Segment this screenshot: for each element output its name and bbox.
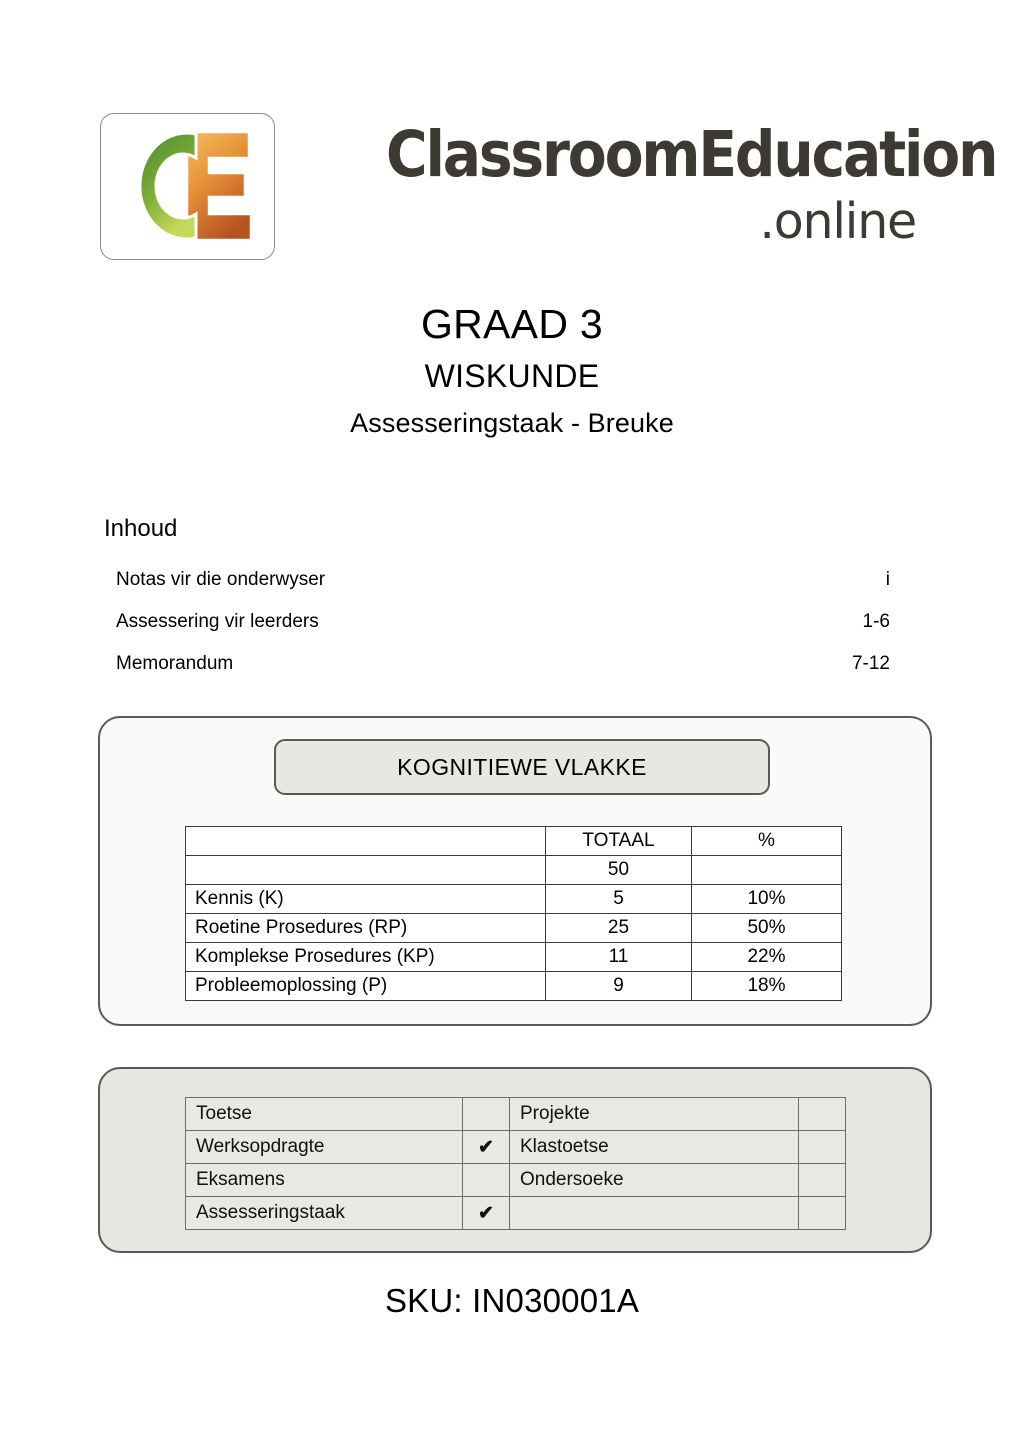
table-row: Eksamens Ondersoeke (186, 1164, 846, 1197)
cog-row-label: Roetine Prosedures (RP) (186, 914, 546, 943)
cog-total-label (186, 856, 546, 885)
cog-row-total: 5 (546, 885, 692, 914)
table-row: Kennis (K) 5 10% (186, 885, 842, 914)
ce-monogram-icon (100, 113, 275, 260)
table-row: 50 (186, 856, 842, 885)
brand-wordmark-main: ClassroomEducation (386, 123, 996, 186)
table-row: Toetse Projekte (186, 1098, 846, 1131)
assessment-right-label: Ondersoeke (510, 1164, 799, 1197)
cog-row-percent: 22% (692, 943, 842, 972)
table-row: Probleemoplossing (P) 9 18% (186, 972, 842, 1001)
table-row: Komplekse Prosedures (KP) 11 22% (186, 943, 842, 972)
brand-wordmark-suffix: .online (759, 197, 916, 246)
cognitive-levels-title: KOGNITIEWE VLAKKE (274, 739, 770, 795)
assessment-left-checkbox[interactable] (463, 1164, 510, 1197)
cog-row-percent: 10% (692, 885, 842, 914)
cog-row-percent: 18% (692, 972, 842, 1001)
table-row: Werksopdragte ✔ Klastoetse (186, 1131, 846, 1164)
toc-entry: Memorandum 7-12 (104, 643, 890, 685)
assessment-left-label: Assesseringstaak (186, 1197, 463, 1230)
cog-row-percent: 50% (692, 914, 842, 943)
toc-entry-label: Memorandum (116, 643, 233, 685)
assessment-right-label (510, 1197, 799, 1230)
toc-entry-pages: i (886, 559, 890, 601)
cog-total-value: 50 (546, 856, 692, 885)
assessment-left-checkbox[interactable]: ✔ (463, 1131, 510, 1164)
toc-entry-label: Assessering vir leerders (116, 601, 319, 643)
assessment-right-checkbox[interactable] (799, 1164, 846, 1197)
brand-wordmark: ClassroomEducation .online (278, 115, 924, 260)
table-header-row: TOTAAL % (186, 827, 842, 856)
assessment-left-checkbox[interactable] (463, 1098, 510, 1131)
assessment-right-label: Klastoetse (510, 1131, 799, 1164)
page-title-subject: WISKUNDE (0, 352, 1024, 400)
assessment-right-checkbox[interactable] (799, 1197, 846, 1230)
cog-row-total: 9 (546, 972, 692, 1001)
toc-heading: Inhoud (104, 512, 890, 546)
page-title-grade: GRAAD 3 (0, 296, 1024, 352)
page-title-task: Assesseringstaak - Breuke (0, 400, 1024, 446)
assessment-right-label: Projekte (510, 1098, 799, 1131)
cog-row-total: 25 (546, 914, 692, 943)
assessment-right-checkbox[interactable] (799, 1131, 846, 1164)
assessment-type-panel: Toetse Projekte Werksopdragte ✔ Klastoet… (98, 1067, 932, 1253)
assessment-left-checkbox[interactable]: ✔ (463, 1197, 510, 1230)
toc-entry-pages: 1-6 (863, 601, 890, 643)
document-title-block: GRAAD 3 WISKUNDE Assesseringstaak - Breu… (0, 296, 1024, 446)
assessment-right-checkbox[interactable] (799, 1098, 846, 1131)
cog-total-percent (692, 856, 842, 885)
assessment-left-label: Eksamens (186, 1164, 463, 1197)
cog-header-percent: % (692, 827, 842, 856)
cog-row-label: Komplekse Prosedures (KP) (186, 943, 546, 972)
assessment-left-label: Toetse (186, 1098, 463, 1131)
brand-header: ClassroomEducation .online (100, 113, 924, 263)
cognitive-levels-panel: KOGNITIEWE VLAKKE TOTAAL % 50 Kennis (K)… (98, 716, 932, 1026)
toc-entry-pages: 7-12 (852, 643, 890, 685)
table-row: Roetine Prosedures (RP) 25 50% (186, 914, 842, 943)
cog-header-blank (186, 827, 546, 856)
toc-entry-label: Notas vir die onderwyser (116, 559, 325, 601)
table-of-contents: Inhoud Notas vir die onderwyser i Assess… (104, 512, 890, 685)
cognitive-levels-table: TOTAAL % 50 Kennis (K) 5 10% Roetine Pro… (185, 826, 842, 1001)
toc-entry: Assessering vir leerders 1-6 (104, 601, 890, 643)
cog-header-total: TOTAAL (546, 827, 692, 856)
toc-entry: Notas vir die onderwyser i (104, 559, 890, 601)
cog-row-label: Kennis (K) (186, 885, 546, 914)
assessment-left-label: Werksopdragte (186, 1131, 463, 1164)
cog-row-total: 11 (546, 943, 692, 972)
sku-label: SKU: IN030001A (0, 1282, 1024, 1320)
table-row: Assesseringstaak ✔ (186, 1197, 846, 1230)
assessment-type-table: Toetse Projekte Werksopdragte ✔ Klastoet… (185, 1097, 846, 1230)
cog-row-label: Probleemoplossing (P) (186, 972, 546, 1001)
